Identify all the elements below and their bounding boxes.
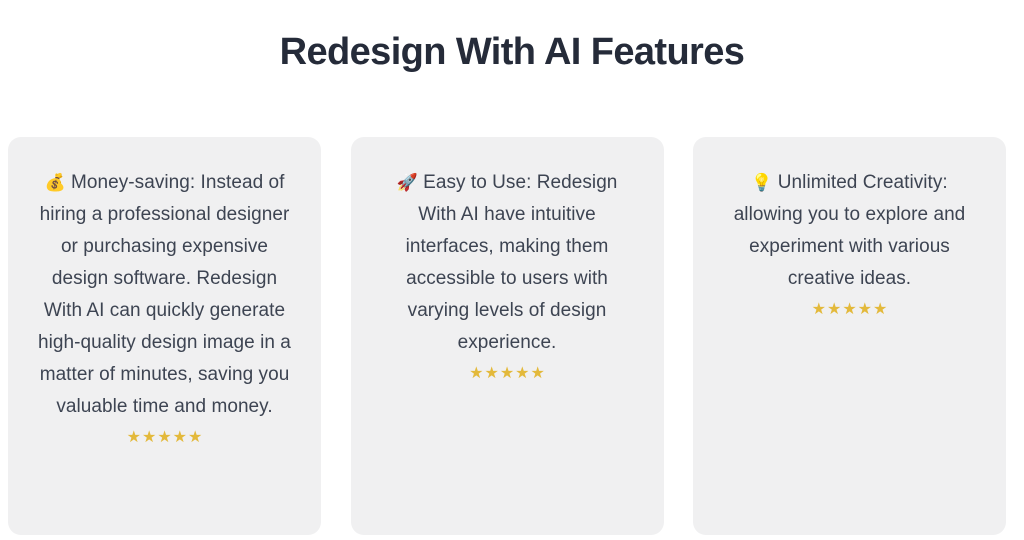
feature-card-unlimited-creativity: 💡 Unlimited Creativity: allowing you to … bbox=[693, 137, 1006, 535]
feature-card-easy-to-use: 🚀 Easy to Use: Redesign With AI have int… bbox=[351, 137, 664, 535]
star-icon: ★ bbox=[469, 363, 483, 383]
star-icon: ★ bbox=[858, 299, 872, 319]
feature-card-body: Easy to Use: Redesign With AI have intui… bbox=[406, 172, 618, 353]
star-icon: ★ bbox=[173, 427, 187, 447]
star-icon: ★ bbox=[531, 363, 545, 383]
star-icon: ★ bbox=[812, 299, 826, 319]
star-icon: ★ bbox=[515, 363, 529, 383]
feature-cards-row: 💰 Money-saving: Instead of hiring a prof… bbox=[8, 137, 1006, 535]
rocket-icon: 🚀 bbox=[397, 173, 418, 193]
rating-stars: ★ ★ ★ ★ ★ bbox=[812, 299, 888, 319]
star-icon: ★ bbox=[142, 427, 156, 447]
star-icon: ★ bbox=[188, 427, 202, 447]
feature-card-text: 🚀 Easy to Use: Redesign With AI have int… bbox=[377, 167, 638, 359]
feature-card-text: 💡 Unlimited Creativity: allowing you to … bbox=[719, 167, 980, 295]
feature-card-money-saving: 💰 Money-saving: Instead of hiring a prof… bbox=[8, 137, 321, 535]
feature-card-text: 💰 Money-saving: Instead of hiring a prof… bbox=[34, 167, 295, 423]
star-icon: ★ bbox=[484, 363, 498, 383]
star-icon: ★ bbox=[127, 427, 141, 447]
money-bag-icon: 💰 bbox=[44, 173, 65, 193]
star-icon: ★ bbox=[873, 299, 887, 319]
star-icon: ★ bbox=[842, 299, 856, 319]
star-icon: ★ bbox=[500, 363, 514, 383]
feature-card-body: Money-saving: Instead of hiring a profes… bbox=[38, 172, 291, 417]
star-icon: ★ bbox=[157, 427, 171, 447]
star-icon: ★ bbox=[827, 299, 841, 319]
rating-stars: ★ ★ ★ ★ ★ bbox=[127, 427, 203, 447]
page-title: Redesign With AI Features bbox=[0, 25, 1024, 77]
rating-stars: ★ ★ ★ ★ ★ bbox=[469, 363, 545, 383]
lightbulb-icon: 💡 bbox=[751, 173, 772, 193]
